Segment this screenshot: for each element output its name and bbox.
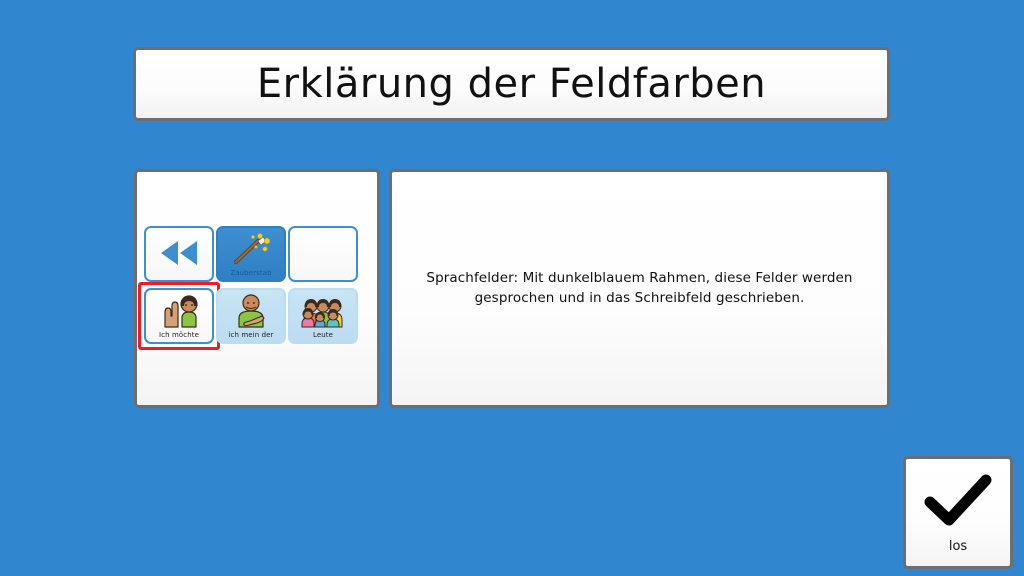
person-raised-hand-icon	[146, 290, 212, 331]
person-pointing-self-icon	[218, 290, 284, 331]
page-title-bar: Erklärung der Feldfarben	[133, 47, 890, 121]
grid-cell-wrapper	[144, 226, 214, 282]
app-root: { "app": { "background_color": "#3087d0"…	[0, 0, 1024, 576]
grid-cell-empty[interactable]	[288, 226, 358, 282]
grid-cell-wrapper	[288, 226, 358, 282]
page-title: Erklärung der Feldfarben	[257, 61, 766, 107]
confirm-button-label: los	[949, 539, 967, 554]
magic-wand-icon	[218, 228, 284, 269]
grid-cell-wrapper: ich mein der	[216, 288, 286, 344]
grid-cell-label: Ich möchte	[159, 331, 199, 342]
grid-cell-ich-moechte[interactable]: Ich möchte	[144, 288, 214, 344]
grid-cell-rewind[interactable]	[144, 226, 214, 282]
grid-cell-label: Zauberstab	[230, 269, 271, 280]
confirm-button[interactable]: los	[903, 456, 1013, 569]
rewind-icon	[146, 228, 212, 277]
explanation-panel: Sprachfelder: Mit dunkelblauem Rahmen, d…	[389, 169, 890, 408]
symbol-grid-panel: Zauberstab	[134, 169, 380, 408]
explanation-text: Sprachfelder: Mit dunkelblauem Rahmen, d…	[406, 269, 873, 308]
symbol-grid: Zauberstab	[144, 226, 358, 344]
grid-cell-leute[interactable]: Leute	[288, 288, 358, 344]
grid-cell-ich-mein-der[interactable]: ich mein der	[216, 288, 286, 344]
checkmark-icon	[922, 473, 994, 533]
grid-cell-wrapper: Leute	[288, 288, 358, 344]
grid-cell-label: Leute	[313, 331, 333, 342]
group-of-people-icon	[290, 290, 356, 331]
grid-cell-wrapper-highlighted: Ich möchte	[144, 288, 214, 344]
grid-cell-zauberstab[interactable]: Zauberstab	[216, 226, 286, 282]
empty-icon	[290, 228, 356, 277]
grid-cell-label: ich mein der	[228, 331, 273, 342]
grid-cell-wrapper: Zauberstab	[216, 226, 286, 282]
